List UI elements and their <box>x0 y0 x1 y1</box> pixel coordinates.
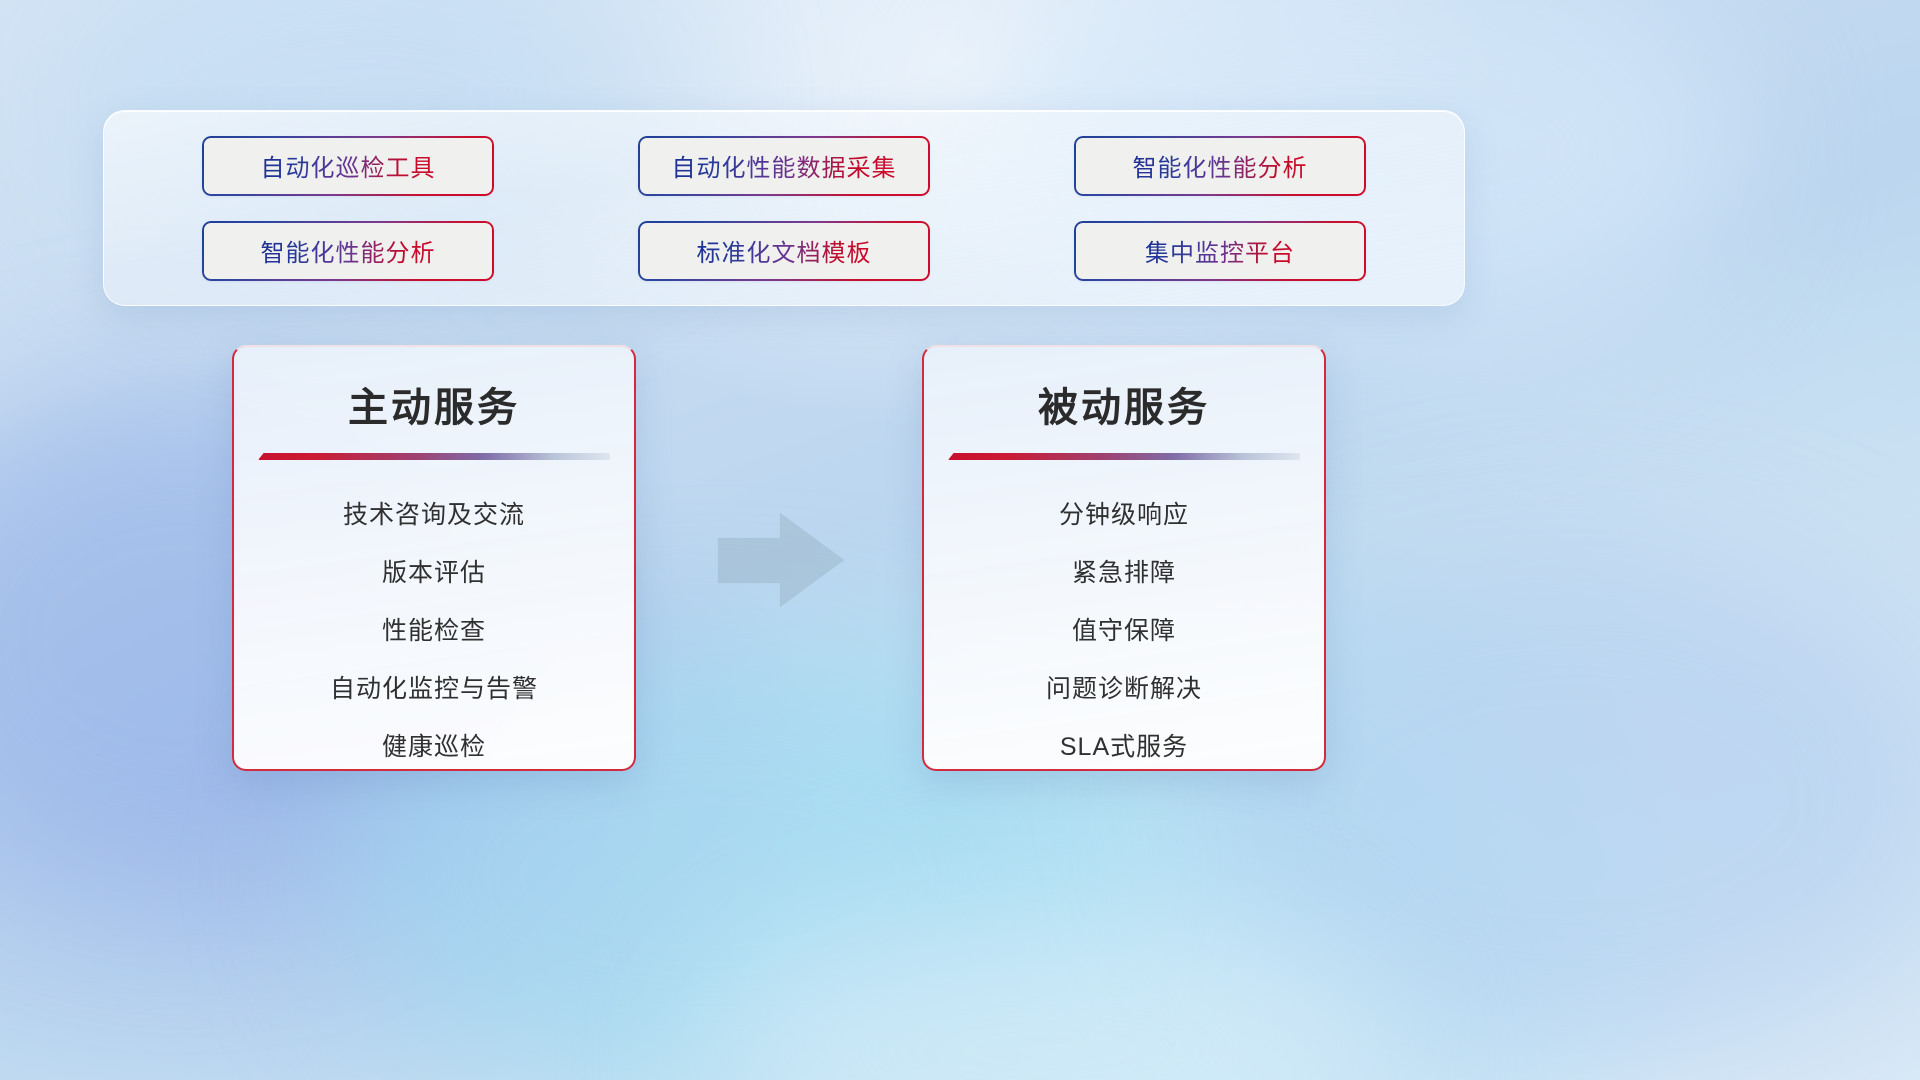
list-item: 分钟级响应 <box>940 486 1308 544</box>
title-underline-accent <box>258 453 610 460</box>
tag-chip-2-label: 自动化性能数据采集 <box>672 148 897 183</box>
list-item: SLA式服务 <box>940 718 1308 771</box>
service-card-reactive-list: 分钟级响应 紧急排障 值守保障 问题诊断解决 SLA式服务 <box>924 486 1324 771</box>
tag-chip-5-label: 标准化文档模板 <box>697 233 872 268</box>
service-card-proactive-list: 技术咨询及交流 版本评估 性能检查 自动化监控与告警 健康巡检 <box>234 486 634 771</box>
tag-chip-3-label: 智能化性能分析 <box>1133 148 1308 183</box>
tag-chip-4-label: 智能化性能分析 <box>261 233 436 268</box>
capability-tags-panel: 自动化巡检工具 自动化性能数据采集 智能化性能分析 智能化性能分析 标准化文档模… <box>103 110 1465 306</box>
list-item: 值守保障 <box>940 602 1308 660</box>
title-underline-accent <box>948 453 1300 460</box>
tag-chip-1[interactable]: 自动化巡检工具 <box>202 136 494 196</box>
service-card-reactive-title: 被动服务 <box>924 375 1324 433</box>
tag-chip-6[interactable]: 集中监控平台 <box>1074 221 1366 281</box>
tag-chip-2[interactable]: 自动化性能数据采集 <box>638 136 930 196</box>
arrow-right-icon <box>712 505 852 615</box>
list-item: 技术咨询及交流 <box>250 486 618 544</box>
list-item: 紧急排障 <box>940 544 1308 602</box>
list-item: 问题诊断解决 <box>940 660 1308 718</box>
list-item: 健康巡检 <box>250 718 618 771</box>
list-item: 性能检查 <box>250 602 618 660</box>
tag-chip-3[interactable]: 智能化性能分析 <box>1074 136 1366 196</box>
service-card-reactive: 被动服务 分钟级响应 紧急排障 值守保障 问题诊断解决 SLA式服务 <box>922 345 1326 771</box>
service-card-proactive-title: 主动服务 <box>234 375 634 433</box>
tag-chip-6-label: 集中监控平台 <box>1145 233 1295 268</box>
tag-chip-4[interactable]: 智能化性能分析 <box>202 221 494 281</box>
flow-arrow <box>712 505 852 615</box>
list-item: 自动化监控与告警 <box>250 660 618 718</box>
background-blob-bottom <box>700 900 1400 1080</box>
tag-chip-1-label: 自动化巡检工具 <box>261 148 436 183</box>
service-card-proactive: 主动服务 技术咨询及交流 版本评估 性能检查 自动化监控与告警 健康巡检 <box>232 345 636 771</box>
tag-chip-5[interactable]: 标准化文档模板 <box>638 221 930 281</box>
list-item: 版本评估 <box>250 544 618 602</box>
